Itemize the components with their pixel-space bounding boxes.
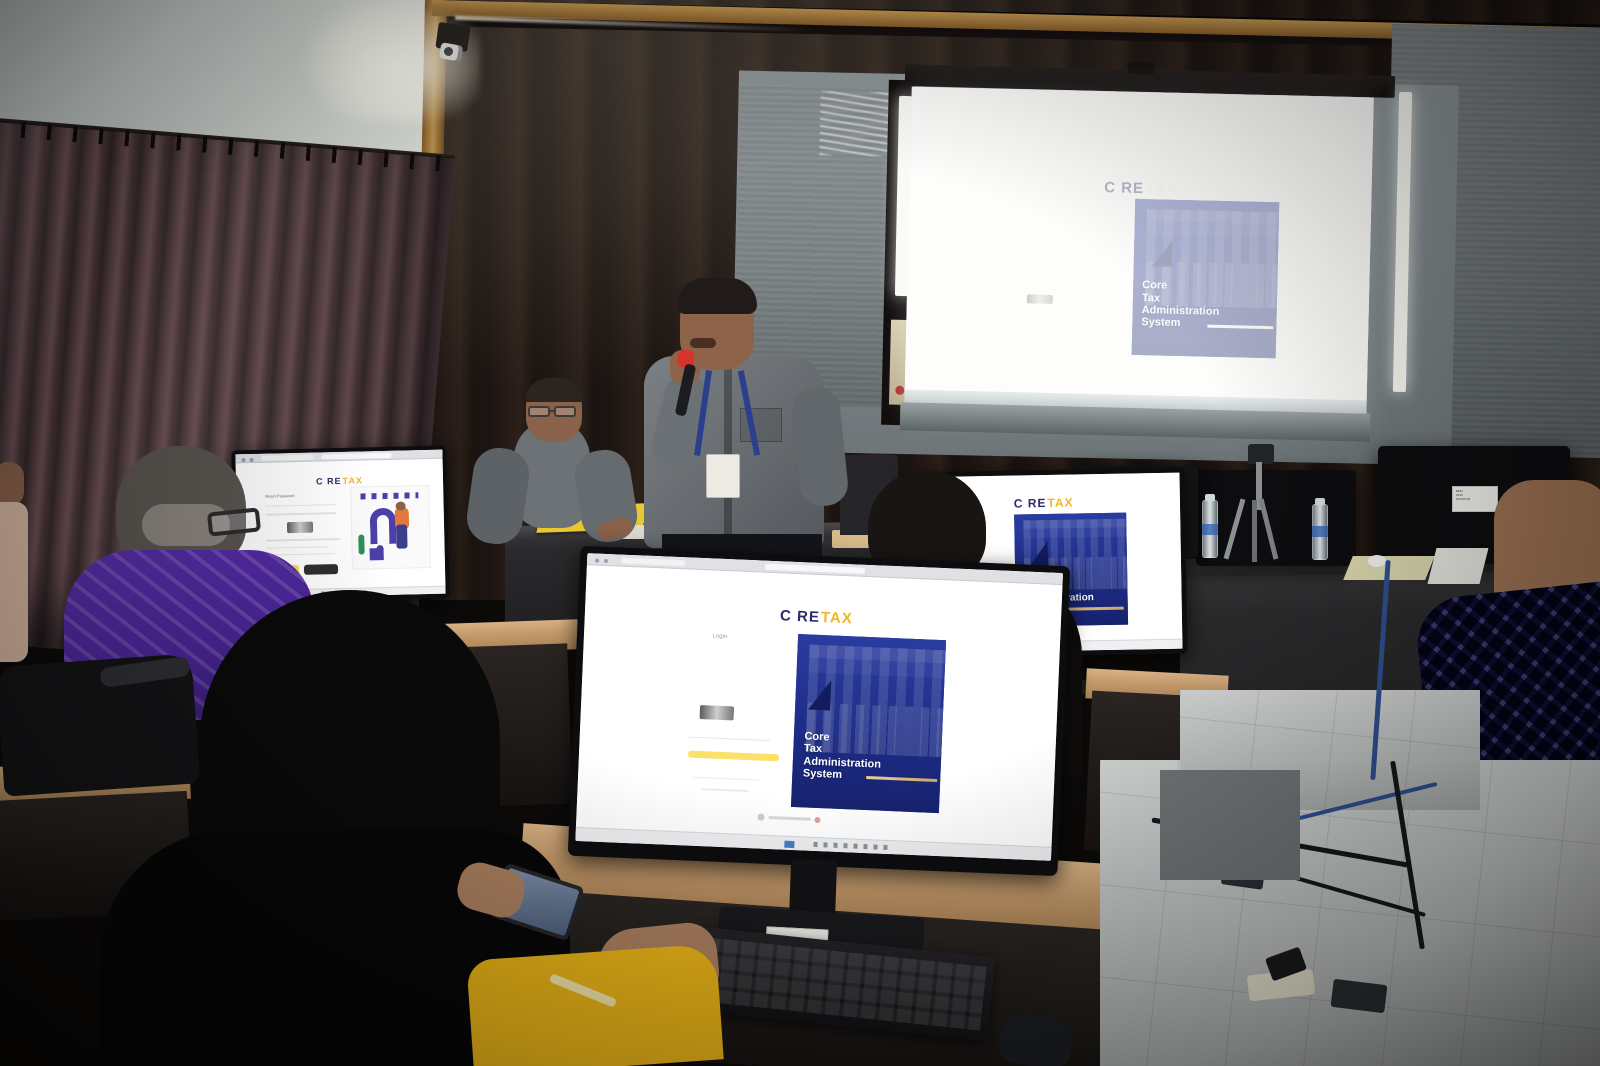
tripod-head (1248, 444, 1274, 464)
presenter-mouth (690, 338, 716, 348)
projected-captcha (1027, 294, 1053, 304)
taskbar-start-icon[interactable] (785, 841, 795, 848)
fg-page-footer (757, 814, 820, 824)
footer-dot-icon (814, 817, 820, 823)
projected-coretax-logo: C RE TAX (1104, 179, 1177, 198)
left-logo-tax: TAX (343, 476, 364, 486)
presenter-shirt-placket (724, 362, 732, 538)
fg-logo-tax: TAX (821, 609, 854, 627)
bottle-label-1 (1202, 524, 1218, 535)
login-heading: Login (712, 633, 727, 640)
seated-man-hair (525, 378, 583, 402)
presenter-standing (628, 278, 848, 578)
cpu-tower (1160, 770, 1300, 880)
illustration-person-legs (396, 524, 408, 548)
id-badge (706, 454, 740, 498)
foreground-monitor-bezel: C RE TAX Login Core Tax Admini (568, 546, 1071, 876)
cctv-dot-icon (444, 47, 453, 56)
fg-logo-core: C RE (780, 607, 821, 626)
projection-screen-mount (1128, 62, 1154, 75)
triangle-accent (1151, 240, 1172, 266)
foreground-monitor-screen[interactable]: C RE TAX Login Core Tax Admini (575, 553, 1063, 861)
bottle-cap-2 (1315, 498, 1325, 505)
footer-globe-icon (757, 814, 764, 821)
projected-hero-card: Core Tax Administration System (1132, 199, 1279, 358)
logo-tax-text: TAX (1145, 180, 1177, 198)
attendee-far-left-edge (0, 462, 28, 662)
fg-hero-title: Core Tax Administration System (803, 730, 883, 782)
taskbar-app-icons[interactable] (813, 842, 889, 850)
foreground-coretax-logo: C RE TAX (780, 607, 853, 627)
glasses-bridge-icon (549, 410, 555, 412)
fg-helper-line-2 (701, 789, 749, 792)
attendee-purple-glasses-icon (207, 507, 261, 536)
fg-hero-card: Core Tax Administration System (791, 634, 946, 813)
fg-triangle-accent (809, 680, 832, 711)
left-illustration-panel (350, 485, 431, 570)
yellow-sleeve (466, 943, 723, 1066)
fg-submit-button[interactable] (688, 751, 779, 762)
logo-core-text: C RE (1104, 179, 1144, 197)
illustration-block (369, 549, 383, 561)
footer-text-line (768, 816, 810, 821)
hero-title: Core Tax Administration System (1141, 280, 1220, 331)
bottle-label-2 (1312, 526, 1328, 537)
fg-helper-line-1 (692, 777, 759, 781)
glasses-right-lens-icon (554, 406, 576, 417)
fg-captcha-image (700, 705, 735, 720)
tripod-leg-3 (1252, 500, 1257, 562)
room-scene: C RE TAX Core Tax Administration System (0, 0, 1600, 1066)
illustration-dots (360, 492, 418, 499)
presenter-hair (677, 278, 757, 314)
fg-taskbar[interactable] (575, 827, 1051, 861)
bottle-cap-1 (1205, 494, 1215, 501)
computer-mouse-icon (1368, 555, 1386, 567)
illustration-plant-icon (358, 534, 364, 554)
fg-input-underline (689, 736, 770, 741)
seated-man-arm-left (464, 445, 533, 548)
glasses-left-lens-icon (528, 406, 550, 417)
question-mark-icon (370, 507, 397, 544)
projection-screen: C RE TAX Core Tax Administration System (904, 87, 1374, 423)
